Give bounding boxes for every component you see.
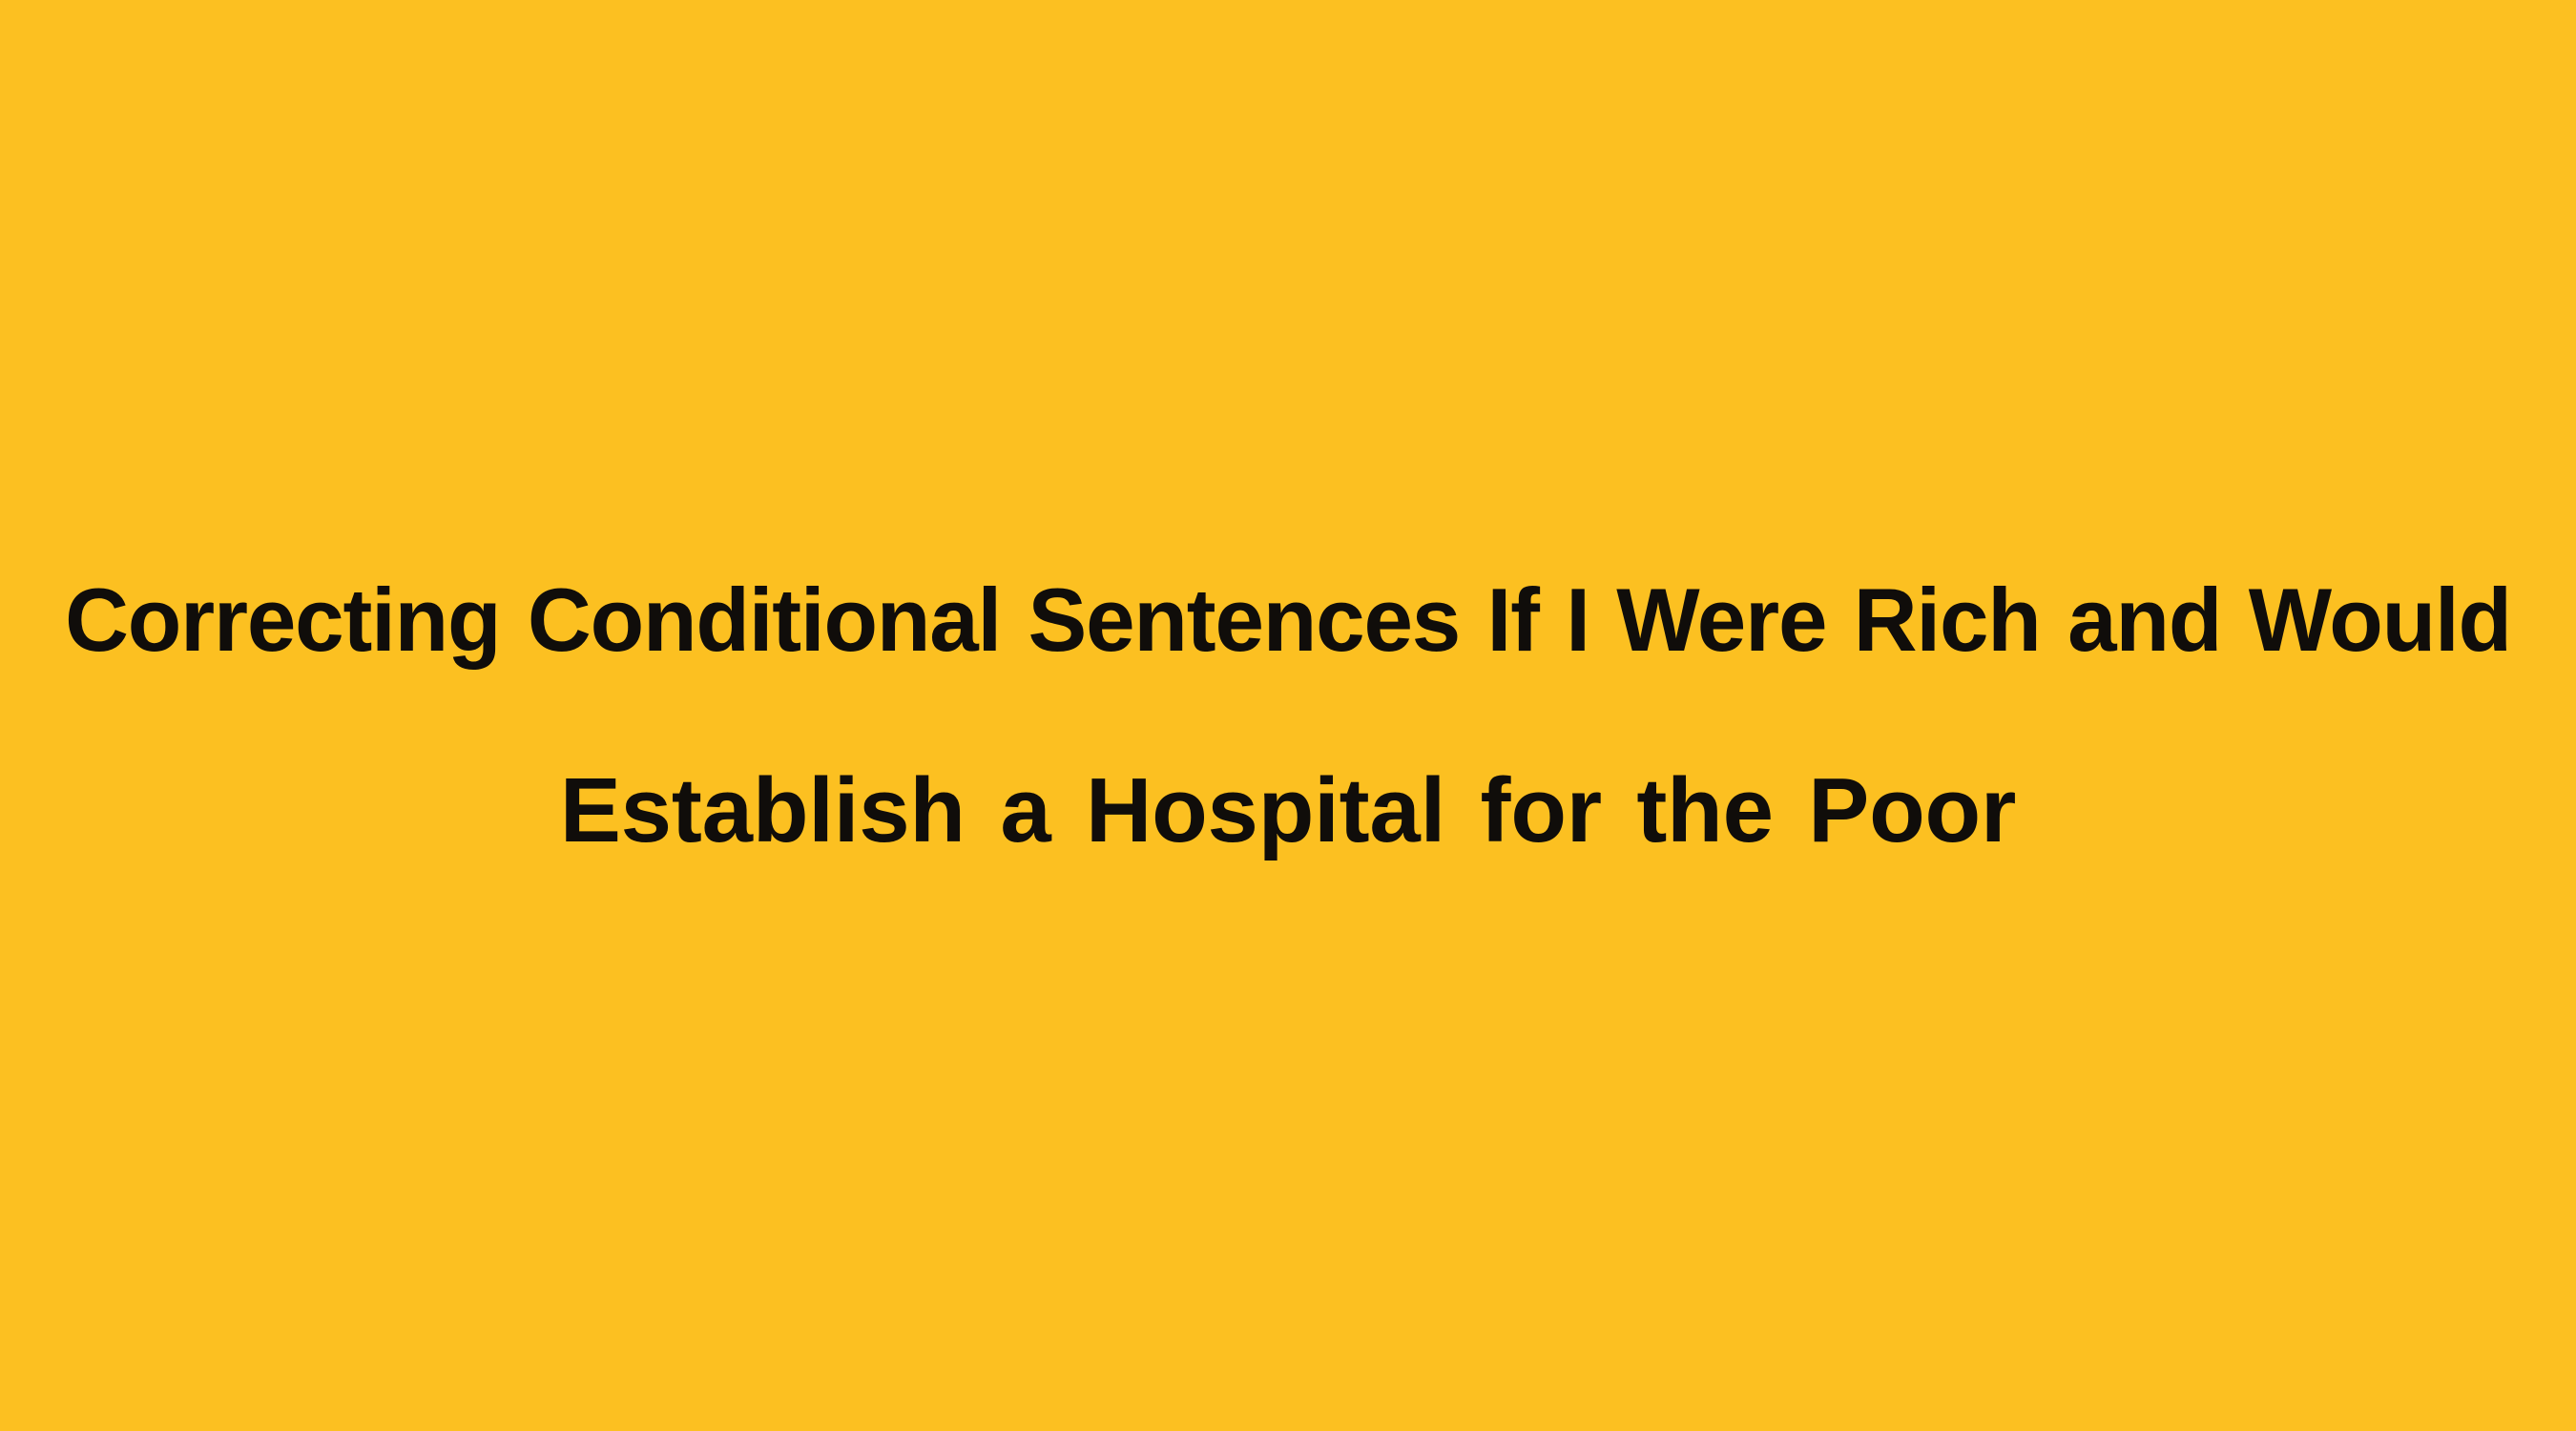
- page-title-line-1: Correcting Conditional Sentences If I We…: [53, 525, 2524, 715]
- page-title-line-2: Establish a Hospital for the Poor: [34, 715, 2542, 906]
- title-banner: Correcting Conditional Sentences If I We…: [0, 0, 2576, 1431]
- page-title: Correcting Conditional Sentences If I We…: [0, 0, 2576, 1431]
